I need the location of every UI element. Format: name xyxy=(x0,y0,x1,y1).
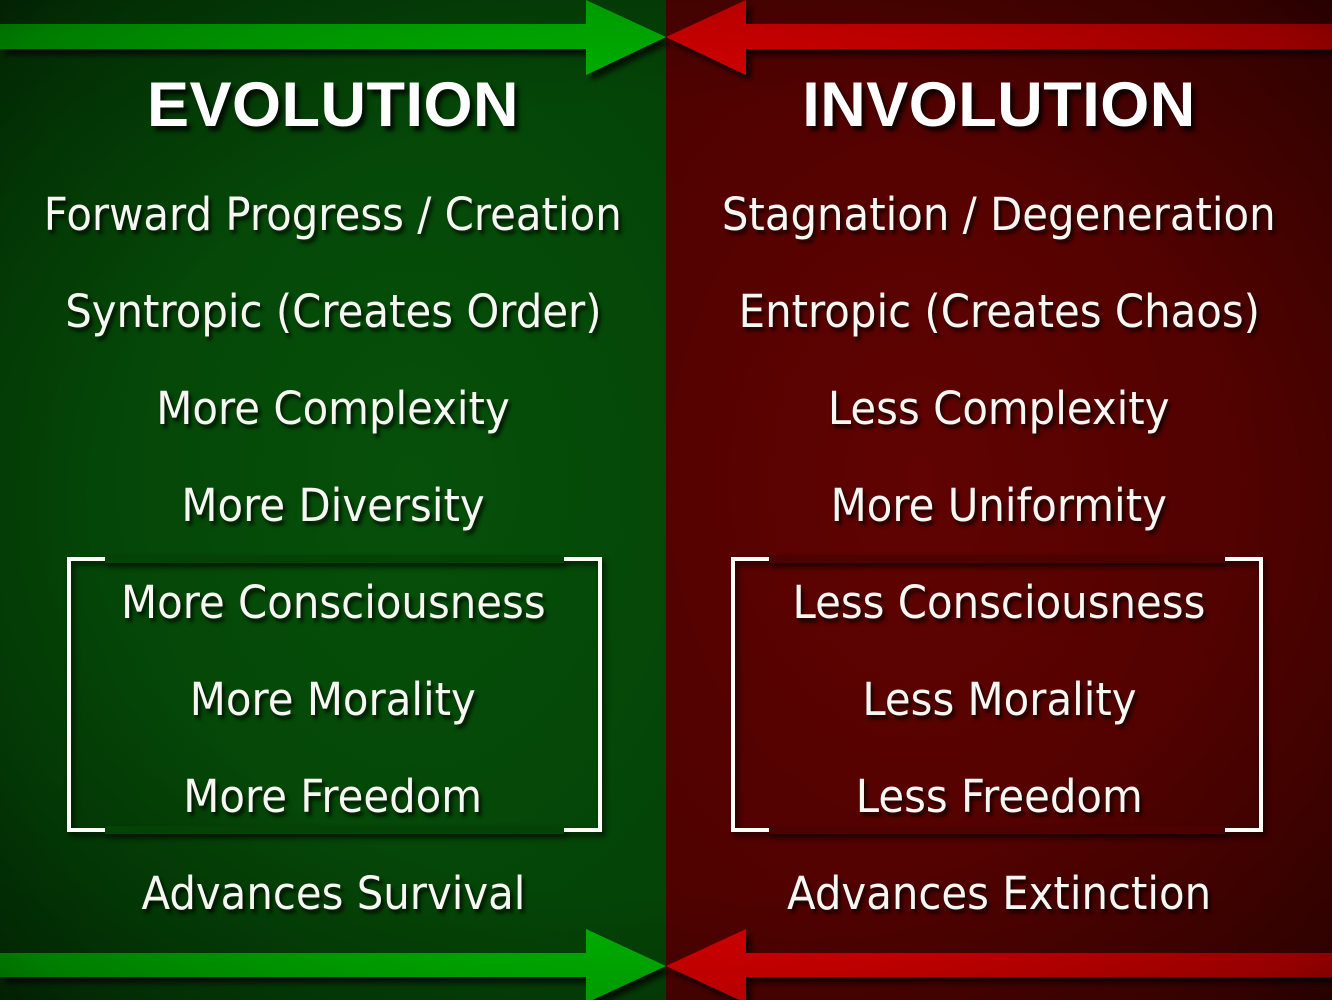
involution-row-6: Less Morality xyxy=(666,677,1332,722)
involution-row-2: Entropic (Creates Chaos) xyxy=(666,289,1332,334)
involution-row-4: More Uniformity xyxy=(666,483,1332,528)
slide-canvas: EVOLUTION Forward Progress / Creation Sy… xyxy=(0,0,1332,1000)
evolution-row-6: More Morality xyxy=(0,677,666,722)
evolution-row-1: Forward Progress / Creation xyxy=(0,192,666,237)
bracket-top-gap xyxy=(105,555,564,563)
involution-row-7: Less Freedom xyxy=(666,774,1332,819)
involution-row-3: Less Complexity xyxy=(666,386,1332,431)
bracket-bottom-gap xyxy=(105,826,564,834)
evolution-column: EVOLUTION Forward Progress / Creation Sy… xyxy=(0,0,666,1000)
bracket-bottom-gap xyxy=(769,826,1225,834)
evolution-row-3: More Complexity xyxy=(0,386,666,431)
involution-title: INVOLUTION xyxy=(666,74,1332,137)
involution-row-8: Advances Extinction xyxy=(666,871,1332,916)
evolution-title: EVOLUTION xyxy=(0,74,666,137)
involution-row-5: Less Consciousness xyxy=(666,580,1332,625)
evolution-row-4: More Diversity xyxy=(0,483,666,528)
involution-column: INVOLUTION Stagnation / Degeneration Ent… xyxy=(666,0,1332,1000)
involution-row-1: Stagnation / Degeneration xyxy=(666,192,1332,237)
evolution-row-8: Advances Survival xyxy=(0,871,666,916)
bracket-top-gap xyxy=(769,555,1225,563)
evolution-row-7: More Freedom xyxy=(0,774,666,819)
evolution-row-5: More Consciousness xyxy=(0,580,666,625)
evolution-row-2: Syntropic (Creates Order) xyxy=(0,289,666,334)
